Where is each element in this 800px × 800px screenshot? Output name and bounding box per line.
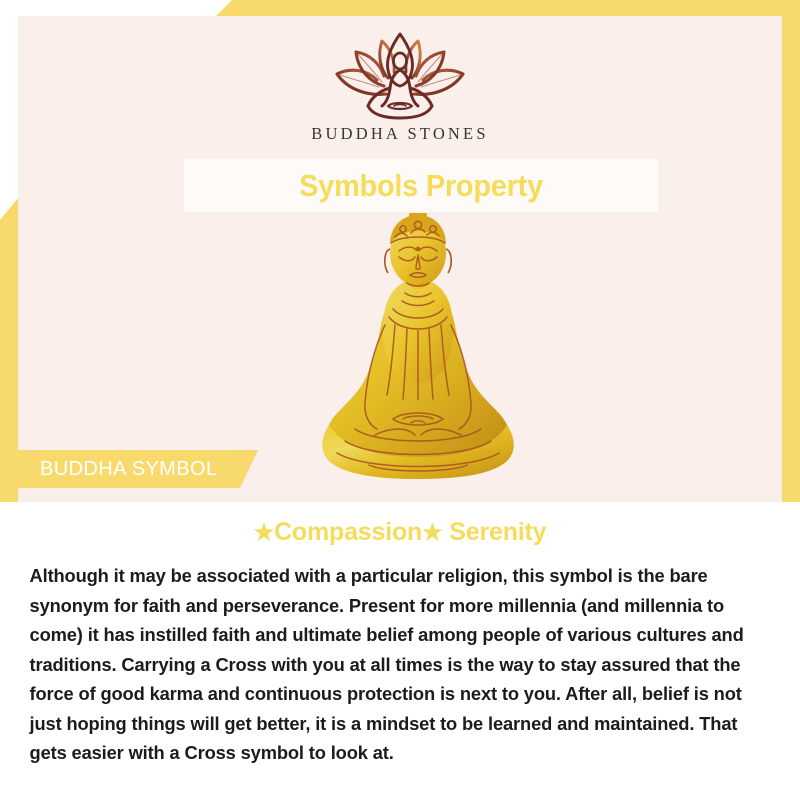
star-icon-2: ★: [422, 519, 442, 545]
decor-band-top: [215, 0, 800, 17]
lotus-meditation-icon: [324, 30, 476, 122]
brand-name: BUDDHA STONES: [311, 124, 488, 144]
star-icon-1: ★: [254, 519, 274, 545]
golden-buddha-statue: [315, 213, 521, 507]
section-label: BUDDHA SYMBOL: [18, 458, 217, 481]
hero-panel: BUDDHA STONES Symbols Property: [18, 16, 782, 502]
title-plaque: Symbols Property: [184, 159, 658, 212]
section-ribbon: BUDDHA SYMBOL: [18, 450, 258, 488]
infographic-page: BUDDHA STONES Symbols Property: [0, 0, 800, 800]
buddha-statue-illustration: [315, 213, 521, 507]
brand-logo: BUDDHA STONES: [18, 30, 782, 144]
page-title: Symbols Property: [299, 168, 543, 204]
tagline-word-compassion: Compassion: [274, 518, 422, 546]
body-section: ★Compassion★ Serenity Although it may be…: [0, 502, 800, 800]
body-paragraph: Although it may be associated with a par…: [0, 547, 788, 768]
tagline-word-serenity: Serenity: [449, 518, 546, 546]
tagline: ★Compassion★ Serenity: [0, 502, 800, 547]
